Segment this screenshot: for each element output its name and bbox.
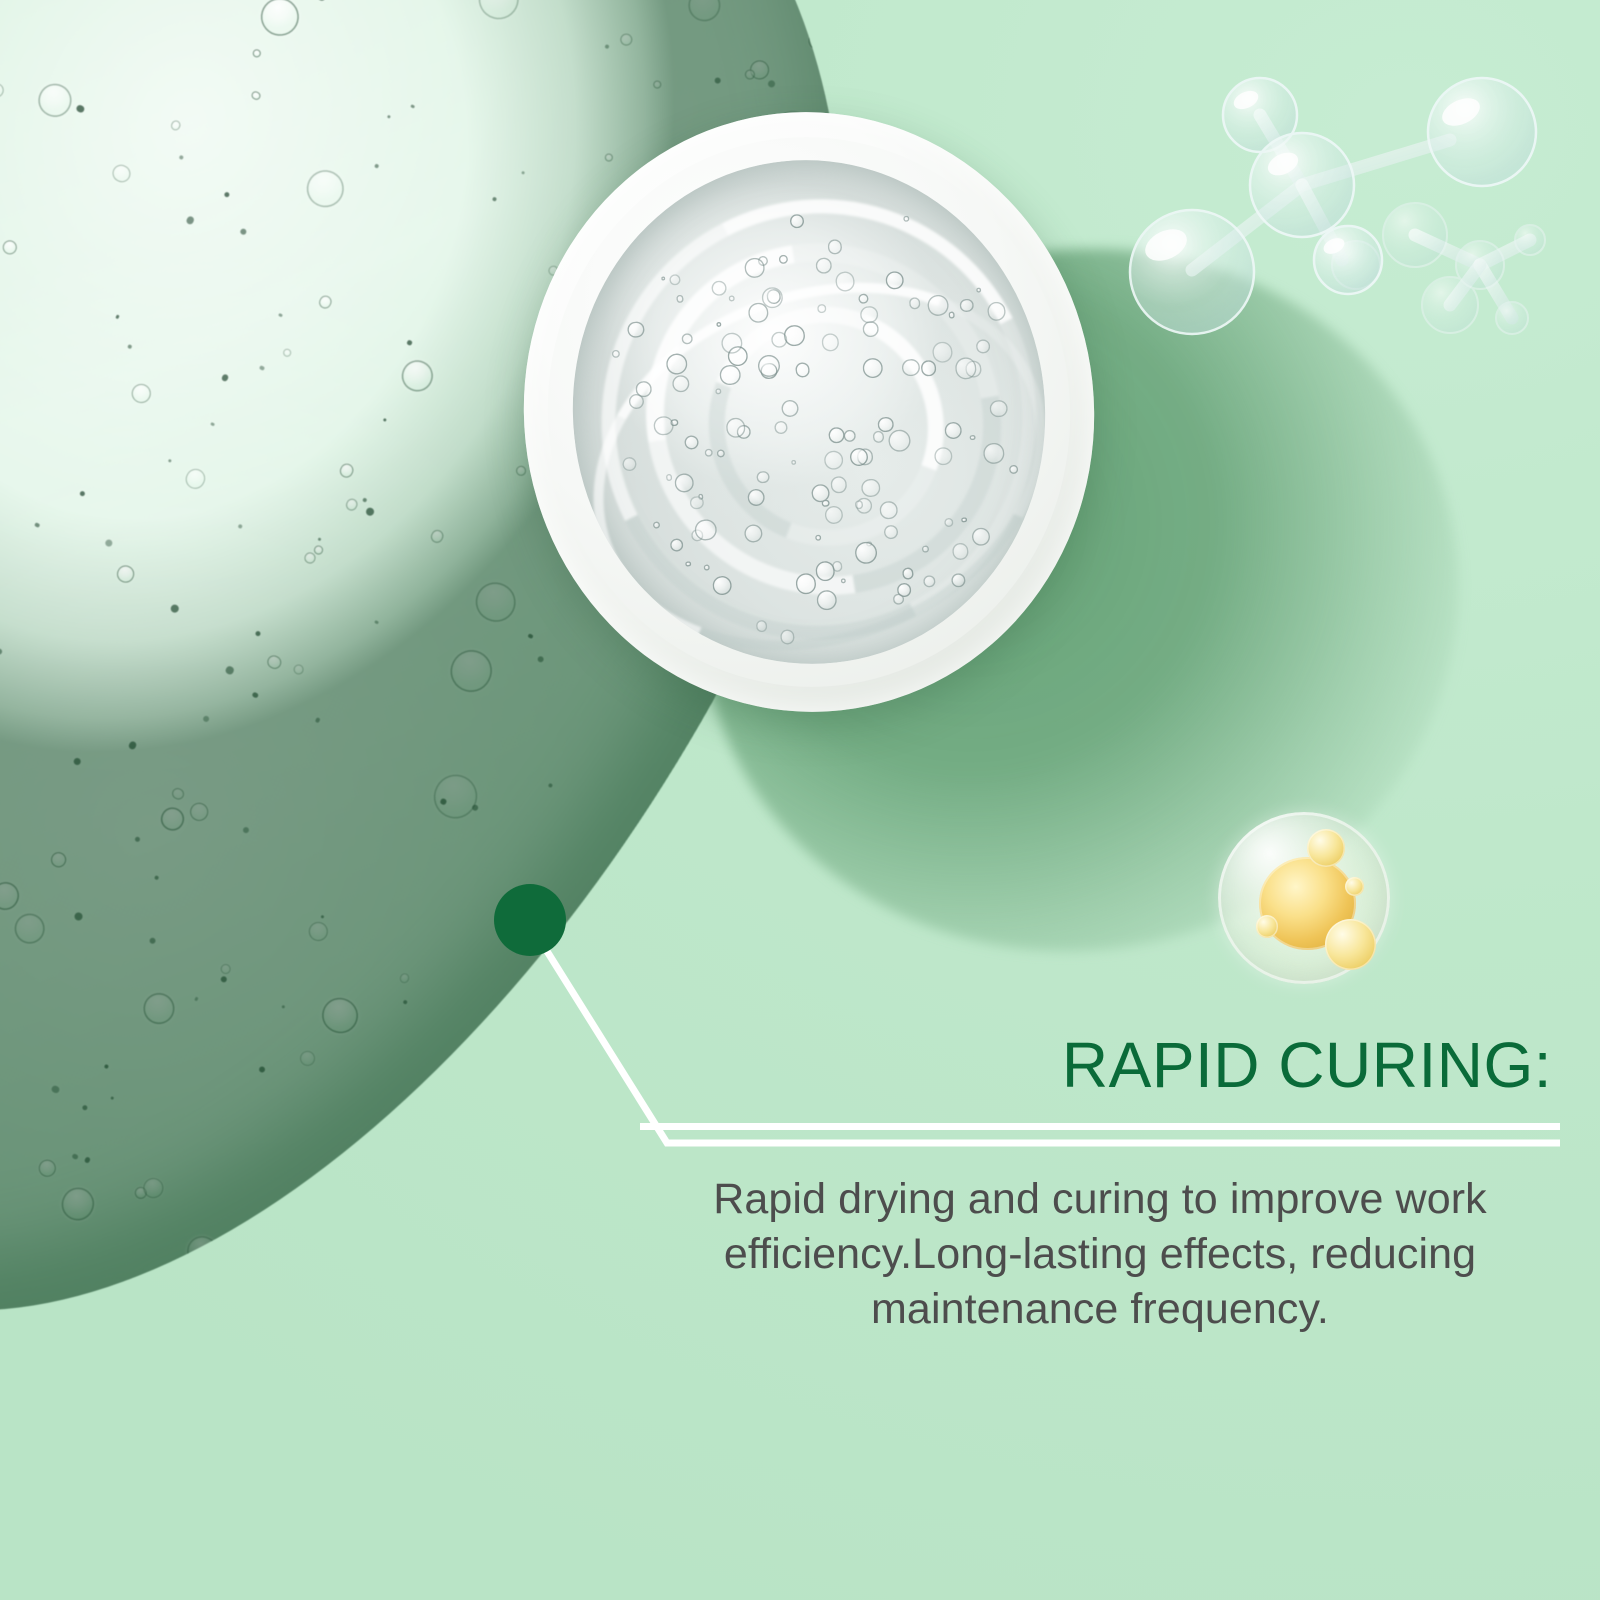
callout-headline: RAPID CURING:	[640, 1032, 1560, 1099]
gel-bubble	[338, 461, 356, 479]
gel-bubble	[223, 191, 231, 199]
gel-bubble	[398, 972, 411, 985]
gel-bubble	[440, 798, 447, 805]
gel-bubble	[746, 57, 772, 83]
gel-bubble	[171, 786, 186, 801]
gel-bubble	[148, 937, 156, 945]
gel-bubble	[169, 119, 182, 132]
callout-marker-dot	[494, 884, 566, 956]
gel-bubble	[138, 987, 180, 1029]
gel-bubble	[188, 800, 212, 824]
gel-bubble	[444, 643, 499, 698]
oil-bubble-mini	[1307, 829, 1345, 867]
gel-bubble	[469, 575, 522, 628]
callout-body-line: Rapid drying and curing to improve work	[640, 1172, 1560, 1227]
gel-bubble	[317, 537, 322, 542]
gel-bubble	[9, 908, 50, 949]
gel-bubble	[0, 648, 3, 656]
gel-bubble	[547, 782, 553, 788]
gel-bubble	[0, 238, 19, 257]
gel-bubble	[115, 314, 120, 319]
gel-bubble	[154, 875, 159, 880]
gel-bubble	[373, 164, 379, 170]
gel-bubble	[292, 663, 306, 677]
gel-bubble	[714, 76, 722, 84]
gel-bubble	[71, 1153, 78, 1160]
gel-bubble	[251, 48, 262, 59]
jar-gel-bubble	[922, 545, 929, 552]
oil-bubble-mini	[1325, 919, 1377, 971]
oil-bubble-mini	[1256, 915, 1278, 937]
gel-bubble	[140, 1175, 167, 1202]
gel-bubble	[219, 962, 232, 975]
gel-bubble	[0, 878, 23, 915]
gel-bubble	[110, 162, 133, 185]
gel-bubble	[604, 44, 609, 49]
gel-bubble	[281, 1004, 286, 1009]
gel-bubble	[300, 164, 350, 214]
gel-bubble	[170, 603, 181, 614]
gel-bubble	[365, 506, 376, 517]
gel-bubble	[127, 740, 137, 750]
gel-bubble	[411, 104, 415, 108]
callout-body-line: maintenance frequency.	[640, 1282, 1560, 1337]
gel-bubble	[254, 0, 306, 43]
gel-bubble	[128, 380, 153, 405]
oil-bubble-icon	[1218, 812, 1390, 984]
gel-bubble	[36, 1157, 59, 1180]
gel-bubble	[250, 90, 261, 101]
gel-bubble	[407, 340, 413, 346]
gel-bubble	[194, 997, 199, 1002]
gel-bubble	[397, 355, 438, 396]
gel-bubble	[382, 418, 387, 423]
product-marketing-image: RAPID CURING: Rapid drying and curing to…	[0, 0, 1600, 1600]
gel-bubble	[237, 523, 243, 529]
gel-bubble	[255, 630, 262, 637]
gel-bubble	[167, 458, 171, 462]
gel-bubble	[0, 81, 6, 99]
headline-divider	[640, 1123, 1560, 1130]
oil-bubble-mini	[1345, 877, 1364, 896]
jar-gel-bubble	[817, 304, 826, 313]
gel-bubble	[374, 620, 379, 625]
gel-bubble	[202, 714, 211, 723]
gel-bubble	[239, 228, 247, 236]
gel-bubble	[743, 67, 757, 81]
jar-gel-bubble	[685, 561, 691, 567]
gel-bubble	[115, 563, 137, 585]
jar-gel-bubble	[903, 215, 910, 222]
gel-bubble	[313, 544, 325, 556]
gel-bubble	[75, 103, 86, 114]
gel-bubble	[127, 343, 133, 349]
gel-bubble	[316, 991, 364, 1039]
molecule-svg	[1120, 60, 1590, 390]
gel-bubble	[618, 31, 635, 48]
gel-bubble	[104, 1064, 109, 1069]
molecule-icon	[1120, 60, 1590, 390]
gel-bubble	[536, 655, 545, 664]
gel-bubble	[472, 0, 525, 26]
gel-bubble	[259, 365, 265, 371]
gel-bubble	[651, 79, 662, 90]
gel-bubble	[316, 0, 326, 2]
gel-bubble	[297, 1048, 318, 1069]
gel-bubble	[278, 313, 283, 318]
gel-bubble	[402, 999, 408, 1005]
gel-bubble	[157, 804, 187, 834]
gel-bubble	[320, 915, 324, 919]
callout-text-block: RAPID CURING: Rapid drying and curing to…	[640, 1032, 1560, 1337]
gel-bubble	[528, 633, 534, 639]
gel-bubble	[34, 522, 40, 528]
gel-bubble	[683, 0, 726, 27]
gel-bubble	[387, 114, 392, 119]
gel-bubble	[429, 528, 445, 544]
jar-gel-bubble	[703, 564, 709, 570]
gel-bubble	[317, 294, 334, 311]
gel-bubble	[134, 836, 141, 843]
gel-bubble	[362, 498, 368, 504]
gel-bubble	[132, 1185, 148, 1201]
gel-bubble	[515, 465, 528, 478]
gel-bubble	[252, 691, 260, 699]
gel-bubble	[210, 422, 215, 427]
gel-bubble	[305, 919, 331, 945]
gel-bubble	[258, 1066, 266, 1074]
gel-bubble	[225, 665, 235, 675]
gel-bubble	[426, 767, 484, 825]
gel-bubble	[344, 497, 360, 513]
gel-bubble	[767, 79, 776, 88]
gel-bubble	[242, 826, 250, 834]
gel-bubble	[73, 911, 83, 921]
gel-bubble	[33, 79, 77, 123]
gel-bubble	[79, 490, 86, 497]
gel-bubble	[82, 1105, 89, 1112]
gel-bubble	[179, 155, 184, 160]
gel-bubble	[56, 1182, 99, 1225]
gel-bubble	[471, 804, 479, 812]
gel-bubble	[303, 551, 317, 565]
gel-bubble	[185, 215, 195, 225]
gel-bubble	[265, 653, 283, 671]
gel-bubble	[220, 975, 228, 983]
gel-bubble	[110, 1096, 114, 1100]
gel-bubble	[84, 1156, 91, 1163]
gel-bubble	[105, 539, 114, 548]
gel-bubble	[50, 1084, 60, 1094]
callout-body-line: efficiency.Long-lasting effects, reducin…	[640, 1227, 1560, 1282]
product-jar	[494, 84, 1124, 740]
gel-bubble	[492, 197, 498, 203]
gel-bubble	[49, 850, 69, 870]
gel-bubble	[315, 717, 321, 723]
gel-bubble	[72, 757, 81, 766]
gel-bubble	[182, 466, 208, 492]
gel-bubble	[221, 374, 229, 382]
gel-bubble	[282, 347, 293, 358]
